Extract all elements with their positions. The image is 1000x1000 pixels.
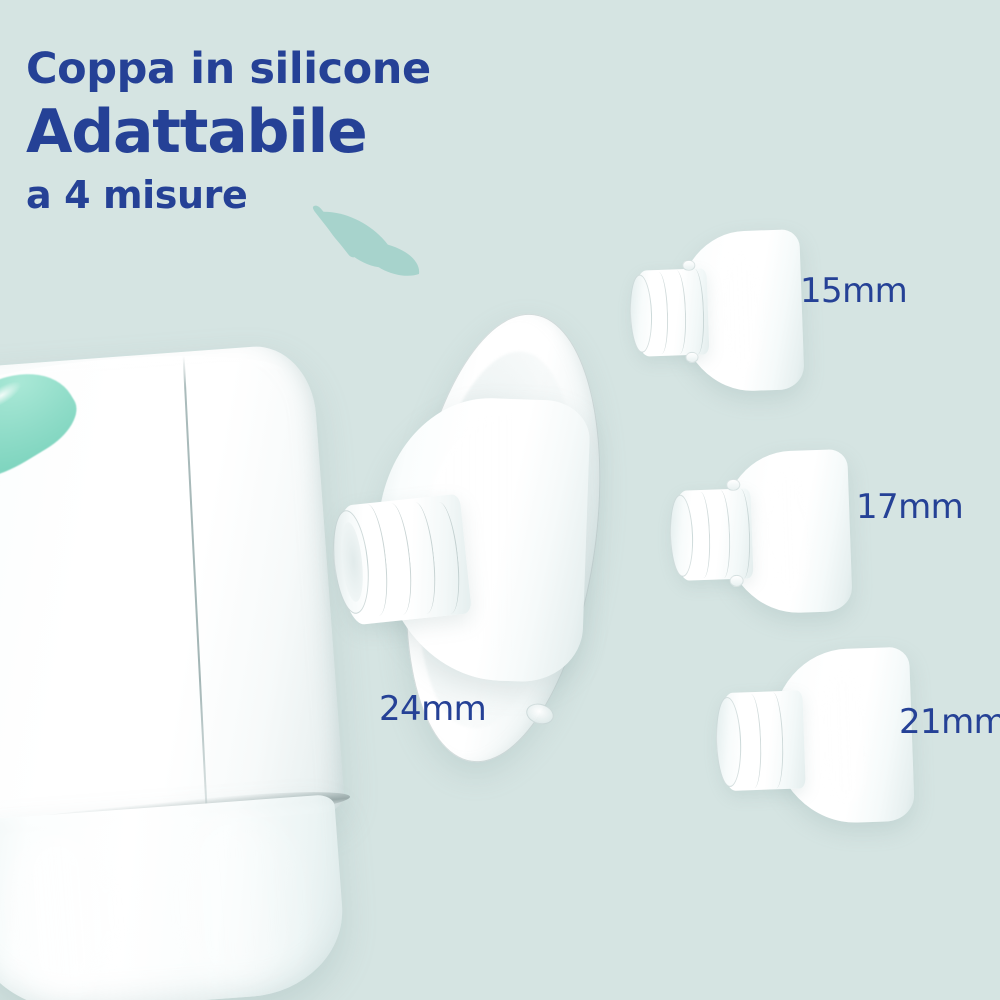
headline-line-3: a 4 misure	[26, 176, 431, 214]
headline-line-1: Coppa in silicone	[26, 48, 431, 91]
product-feature-image: Coppa in silicone Adattabile a 4 misure	[0, 0, 1000, 1000]
size-label-24mm: 24mm	[379, 689, 486, 729]
silicone-insert-21mm	[715, 647, 911, 830]
silicone-insert-15mm	[629, 229, 803, 397]
size-label-15mm: 15mm	[800, 271, 907, 311]
silicone-insert-17mm	[669, 449, 851, 619]
size-label-21mm: 21mm	[899, 702, 1000, 742]
headline-block: Coppa in silicone Adattabile a 4 misure	[26, 48, 431, 214]
size-label-17mm: 17mm	[856, 487, 963, 527]
headline-line-2: Adattabile	[26, 100, 431, 165]
